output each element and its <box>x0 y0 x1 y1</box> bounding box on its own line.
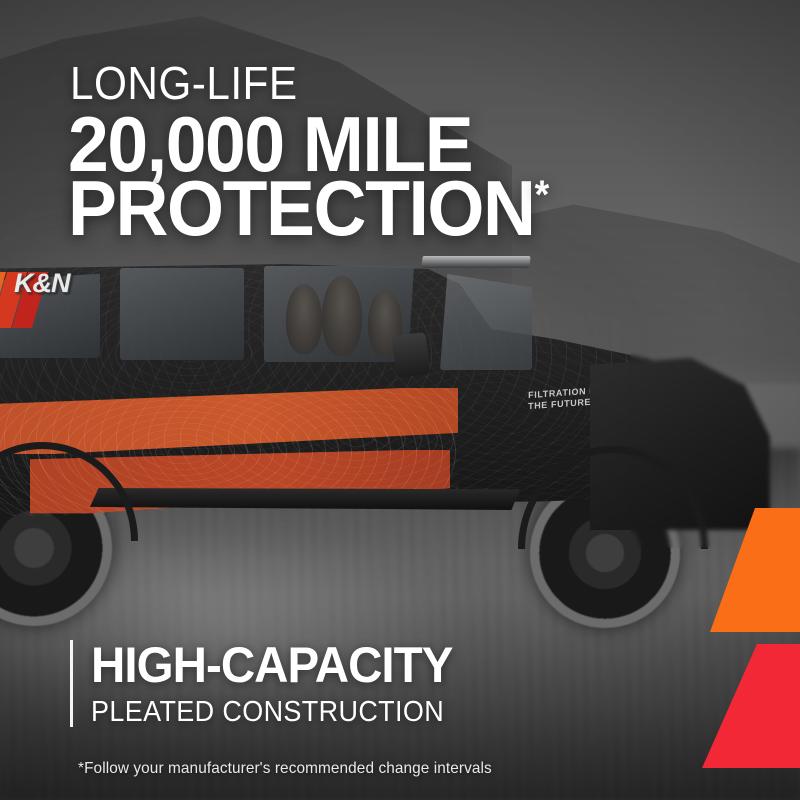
subhead-main-text: HIGH-CAPACITY <box>91 640 452 690</box>
subhead-sub-text: PLEATED CONSTRUCTION <box>91 697 445 727</box>
footnote-text: *Follow your manufacturer's recommended … <box>78 760 492 778</box>
headline-line-2-text: PROTECTION <box>68 164 535 252</box>
subhead-block: HIGH-CAPACITY PLEATED CONSTRUCTION <box>70 640 472 727</box>
subhead-lines: HIGH-CAPACITY PLEATED CONSTRUCTION <box>91 640 472 727</box>
headline-asterisk: * <box>535 173 550 217</box>
advertisement-canvas: FILTRATION FOR THE FUTURE. K&N LONG-LIFE… <box>0 0 800 800</box>
subhead-divider-rule <box>70 640 73 727</box>
copy-layer: LONG-LIFE 20,000 MILE PROTECTION* HIGH-C… <box>0 0 800 800</box>
headline-line-2: PROTECTION* <box>68 172 549 244</box>
